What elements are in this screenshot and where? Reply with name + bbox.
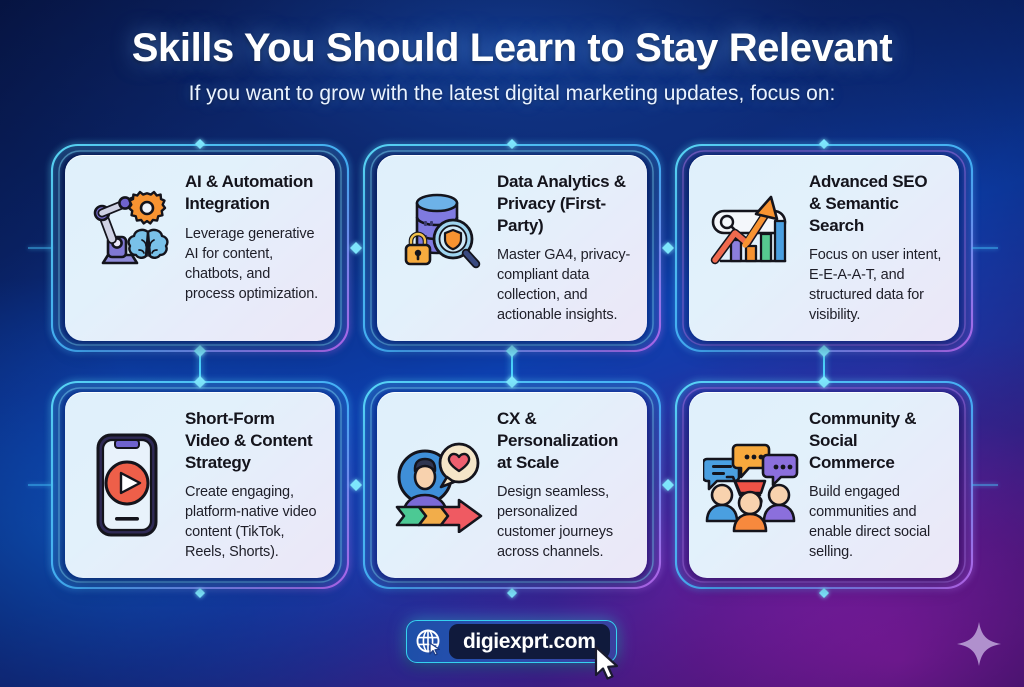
card-description: Leverage generative AI for content, chat… [185,224,319,304]
infographic-canvas: Skills You Should Learn to Stay Relevant… [0,0,1024,687]
card-cx-personalization-at-scale[interactable]: CX & Personalization at Scale Design sea… [377,392,647,578]
card-description: Build engaged communities and enable dir… [809,482,943,562]
globe-cursor-icon [412,625,446,659]
website-url: digiexprt.com [463,630,596,654]
speech-bubbles-cart-people-icon [703,406,799,564]
card-title: CX & Personalization at Scale [497,408,631,473]
person-heart-bubble-arrow-icon [391,406,487,564]
card-title: Community & Social Commerce [809,408,943,473]
smartphone-play-button-icon [79,406,175,564]
card-description: Focus on user intent, E-E-A-A-T, and str… [809,245,943,325]
card-ai-automation-integration[interactable]: AI & Automation Integration Leverage gen… [65,155,335,341]
robot-arm-gear-brain-icon [79,169,175,277]
card-data-analytics-privacy[interactable]: Data Analytics & Privacy (First-Party) M… [377,155,647,341]
card-title: AI & Automation Integration [185,171,319,215]
url-chip[interactable]: digiexprt.com [449,624,610,659]
card-community-social-commerce[interactable]: Community & Social Commerce Build engage… [689,392,959,578]
page-title: Skills You Should Learn to Stay Relevant [0,26,1024,71]
sparkle-star-icon [955,620,1003,673]
card-title: Short-Form Video & Content Strategy [185,408,319,473]
card-advanced-seo-semantic-search[interactable]: Advanced SEO & Semantic Search Focus on … [689,155,959,341]
card-short-form-video-content-strategy[interactable]: Short-Form Video & Content Strategy Crea… [65,392,335,578]
database-magnifier-lock-icon [391,169,487,277]
card-description: Create engaging, platform-native video c… [185,482,319,562]
card-description: Master GA4, privacy-compliant data colle… [497,245,631,325]
header: Skills You Should Learn to Stay Relevant… [0,26,1024,106]
card-title: Advanced SEO & Semantic Search [809,171,943,236]
card-description: Design seamless, personalized customer j… [497,482,631,562]
search-bar-growth-chart-icon [703,169,799,277]
page-subtitle: If you want to grow with the latest digi… [0,82,1024,106]
mouse-pointer-icon [593,645,623,687]
card-title: Data Analytics & Privacy (First-Party) [497,171,631,236]
website-badge[interactable]: digiexprt.com [406,620,617,663]
